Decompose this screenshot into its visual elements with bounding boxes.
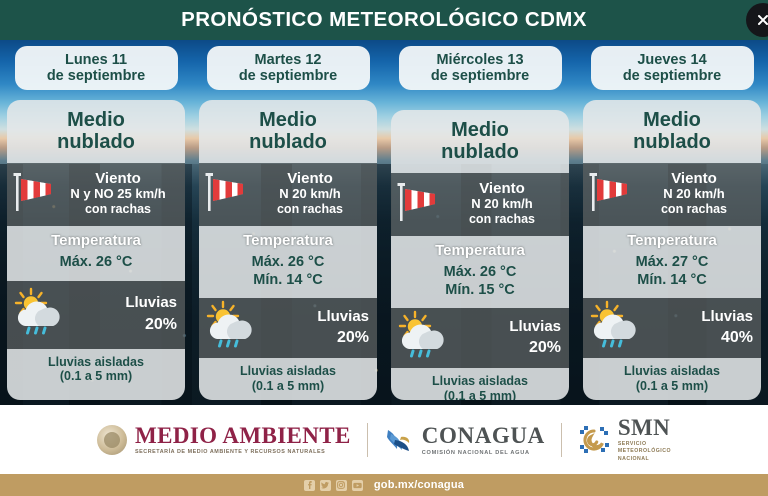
windsock-icon [203,170,249,218]
wind-gust: con rachas [57,202,179,216]
smn-title: SMN [618,416,671,439]
day-pill-3[interactable]: Jueves 14 de septiembre [591,46,754,90]
wind-section: Viento N 20 km/h con rachas [583,163,761,226]
rain-note-line-2: (0.1 a 5 mm) [11,369,181,384]
rain-label: Lluvias [71,293,177,313]
temperature-label: Temperatura [203,232,373,249]
sky-condition: Medio nublado [391,110,569,173]
day-month: de septiembre [239,68,337,84]
forecast-card-row: Medio nublado V [0,100,768,400]
day-month: de septiembre [431,68,529,84]
day-pill-row: Lunes 11 de septiembre Martes 12 de sept… [0,46,768,90]
rain-section: Lluvias 40% [583,298,761,358]
rain-note-line-2: (0.1 a 5 mm) [203,379,373,394]
sky-condition: Medio nublado [199,100,377,163]
rain-note: Lluvias aisladas (0.1 a 5 mm) [583,358,761,400]
forecast-card-3: Medio nublado V [583,100,761,400]
windsock-icon [11,170,57,218]
sun-cloud-rain-icon [587,300,647,355]
rain-note-line-1: Lluvias aisladas [395,374,565,389]
wind-label: Viento [441,180,563,197]
medio-ambiente-title: MEDIO AMBIENTE [135,424,351,447]
temperature-min: Mín. 14 °C [203,272,373,290]
sky-condition: Medio nublado [7,100,185,163]
smn-spiral-glyph-icon [578,424,610,456]
facebook-icon[interactable] [304,480,315,491]
sun-cloud-rain-icon [11,287,71,342]
smn-subtitle-line-2: METEOROLÓGICO [618,448,671,456]
rain-section: Lluvias 20% [7,281,185,349]
forecast-card-2: Medio nublado V [391,110,569,400]
temperature-max: Máx. 26 °C [11,254,181,272]
day-pill-0[interactable]: Lunes 11 de septiembre [15,46,178,90]
day-month: de septiembre [623,68,721,84]
wind-label: Viento [633,170,755,187]
wind-label: Viento [249,170,371,187]
twitter-icon[interactable] [320,480,331,491]
windsock-icon [587,170,633,218]
instagram-icon[interactable] [336,480,347,491]
close-icon [755,12,768,28]
rain-percent: 20% [455,337,561,359]
logo-row: MEDIO AMBIENTE SECRETARÍA DE MEDIO AMBIE… [0,405,768,474]
conagua-logo: CONAGUA COMISIÓN NACIONAL DEL AGUA [384,424,545,456]
rain-percent: 40% [647,327,753,349]
temperature-min: Mín. 14 °C [587,272,757,290]
rain-note-line-1: Lluvias aisladas [11,355,181,370]
wind-label: Viento [57,170,179,187]
close-button[interactable] [746,3,768,37]
wind-speed: N 20 km/h [441,197,563,212]
wind-section: Viento N 20 km/h con rachas [199,163,377,226]
conagua-subtitle: COMISIÓN NACIONAL DEL AGUA [422,450,545,456]
wind-gust: con rachas [441,212,563,226]
smn-subtitle-line-3: NACIONAL [618,456,671,464]
temperature-label: Temperatura [395,242,565,259]
temperature-max: Máx. 27 °C [587,254,757,272]
rain-percent: 20% [71,314,177,336]
wind-gust: con rachas [633,202,755,216]
conagua-wave-eagle-icon [384,425,414,455]
sky-line-2: nublado [395,141,565,163]
wind-gust: con rachas [249,202,371,216]
sky-line-1: Medio [587,109,757,131]
day-name: Jueves 14 [637,52,706,68]
sky-condition: Medio nublado [583,100,761,163]
temperature-label: Temperatura [11,232,181,249]
header-bar: PRONÓSTICO METEOROLÓGICO CDMX [0,0,768,40]
youtube-icon[interactable] [352,480,363,491]
rain-note-line-1: Lluvias aisladas [587,364,757,379]
forecast-card-0: Medio nublado V [7,100,185,400]
page-title: PRONÓSTICO METEOROLÓGICO CDMX [181,8,587,32]
temperature-max: Máx. 26 °C [203,254,373,272]
website-url[interactable]: gob.mx/conagua [374,479,464,491]
wind-speed: N y NO 25 km/h [57,187,179,202]
sky-line-1: Medio [203,109,373,131]
rain-label: Lluvias [263,307,369,327]
temperature-section: Temperatura Máx. 27 °C Mín. 14 °C [583,226,761,298]
temperature-label: Temperatura [587,232,757,249]
mexico-eagle-seal-icon [97,425,127,455]
temperature-section: Temperatura Máx. 26 °C [7,226,185,281]
rain-note: Lluvias aisladas (0.1 a 5 mm) [7,349,185,400]
day-name: Martes 12 [255,52,322,68]
day-pill-1[interactable]: Martes 12 de septiembre [207,46,370,90]
rain-section: Lluvias 20% [199,298,377,358]
wind-section: Viento N 20 km/h con rachas [391,173,569,236]
rain-note-line-2: (0.1 a 5 mm) [587,379,757,394]
day-name: Lunes 11 [65,52,127,68]
rain-label: Lluvias [455,317,561,337]
wind-speed: N 20 km/h [633,187,755,202]
day-pill-2[interactable]: Miércoles 13 de septiembre [399,46,562,90]
medio-ambiente-logo: MEDIO AMBIENTE SECRETARÍA DE MEDIO AMBIE… [97,424,351,455]
rain-note-line-2: (0.1 a 5 mm) [395,389,565,400]
wind-section: Viento N y NO 25 km/h con rachas [7,163,185,226]
conagua-title: CONAGUA [422,424,545,447]
rain-label: Lluvias [647,307,753,327]
sky-line-1: Medio [395,119,565,141]
sun-cloud-rain-icon [395,310,455,365]
sky-line-2: nublado [203,131,373,153]
windsock-icon [395,180,441,228]
sun-cloud-rain-icon [203,300,263,355]
medio-ambiente-subtitle: SECRETARÍA DE MEDIO AMBIENTE Y RECURSOS … [135,450,351,455]
forecast-card-1: Medio nublado V [199,100,377,400]
rain-note-line-1: Lluvias aisladas [203,364,373,379]
footer: MEDIO AMBIENTE SECRETARÍA DE MEDIO AMBIE… [0,405,768,496]
rain-note: Lluvias aisladas (0.1 a 5 mm) [199,358,377,400]
temperature-section: Temperatura Máx. 26 °C Mín. 14 °C [199,226,377,298]
day-month: de septiembre [47,68,145,84]
temperature-min: Mín. 15 °C [395,282,565,300]
weather-forecast-infographic: PRONÓSTICO METEOROLÓGICO CDMX Lunes 11 d… [0,0,768,496]
temperature-section: Temperatura Máx. 26 °C Mín. 15 °C [391,236,569,308]
sky-line-2: nublado [587,131,757,153]
wind-speed: N 20 km/h [249,187,371,202]
rain-note: Lluvias aisladas (0.1 a 5 mm) [391,368,569,400]
logo-divider [561,423,562,457]
sky-line-1: Medio [11,109,181,131]
day-name: Miércoles 13 [436,52,523,68]
rain-percent: 20% [263,327,369,349]
sky-line-2: nublado [11,131,181,153]
logo-divider [367,423,368,457]
temperature-max: Máx. 26 °C [395,264,565,282]
social-url-bar: gob.mx/conagua [0,474,768,496]
rain-section: Lluvias 20% [391,308,569,368]
smn-logo: SMN SERVICIO METEOROLÓGICO NACIONAL [578,416,671,464]
